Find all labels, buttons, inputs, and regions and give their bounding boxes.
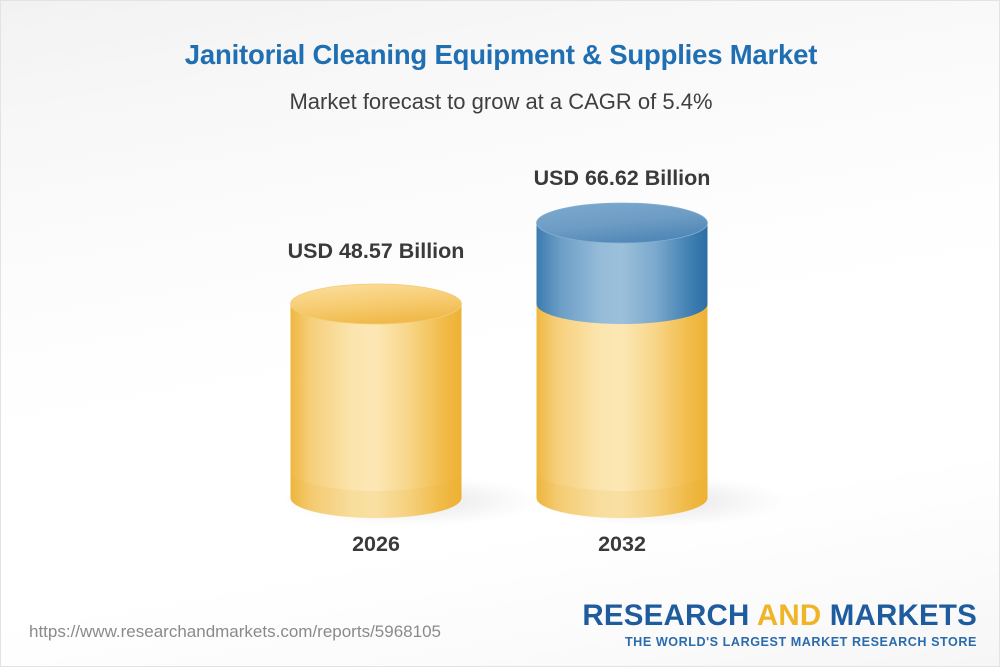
brand-logo[interactable]: RESEARCH AND MARKETS THE WORLD'S LARGEST…: [582, 601, 977, 649]
brand-tagline: THE WORLD'S LARGEST MARKET RESEARCH STOR…: [582, 635, 977, 649]
value-label-2026: USD 48.57 Billion: [216, 239, 536, 264]
cylinder-bar-chart: [1, 1, 1000, 601]
brand-word-research: RESEARCH: [582, 599, 756, 632]
bar-cap-2032: [537, 203, 708, 243]
bar-cylinder-2032[interactable]: [537, 203, 708, 518]
chart-plot-area: USD 48.57 Billion USD 66.62 Billion 2026…: [1, 1, 1000, 601]
brand-word-and: AND: [757, 599, 822, 632]
brand-wordmark: RESEARCH AND MARKETS: [582, 601, 977, 632]
report-url[interactable]: https://www.researchandmarkets.com/repor…: [29, 622, 441, 642]
infographic-canvas: Janitorial Cleaning Equipment & Supplies…: [0, 0, 1000, 667]
bar-cylinder-2026[interactable]: [291, 284, 462, 518]
category-label-2032: 2032: [462, 532, 782, 557]
value-label-2032: USD 66.62 Billion: [462, 166, 782, 191]
brand-word-markets: MARKETS: [821, 599, 977, 632]
bar-cap-2026: [291, 284, 462, 324]
